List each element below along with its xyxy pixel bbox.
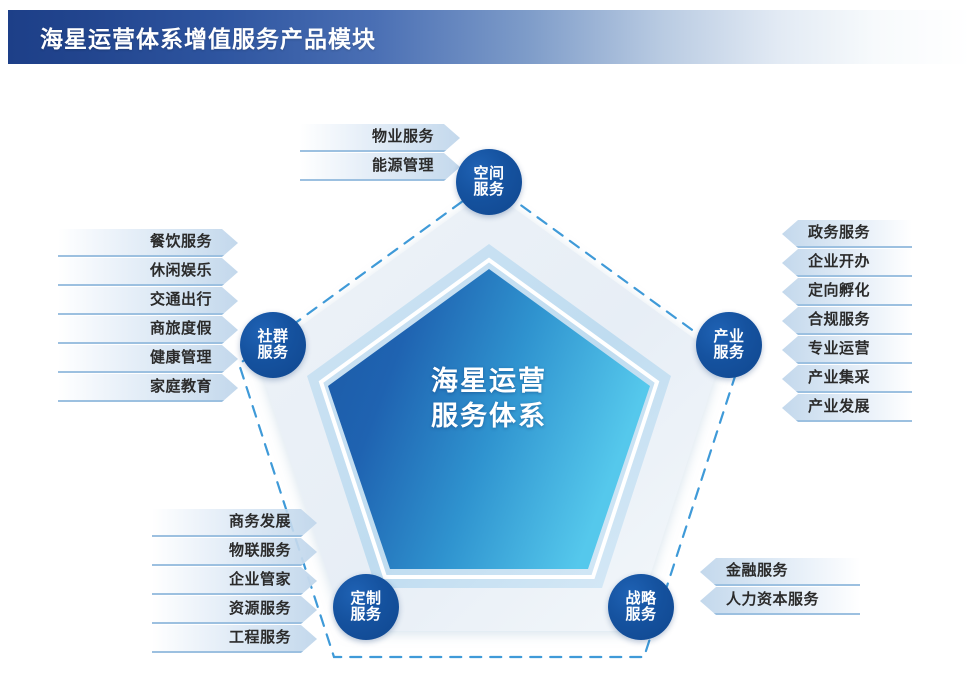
label-text: 金融服务 [700,558,860,584]
label-text: 产业集采 [782,365,912,391]
label-group-community: 餐饮服务 休闲娱乐 交通出行 商旅度假 健康管理 家庭教育 [58,229,238,403]
node-industry-line1: 产业 [713,329,744,345]
center-title-line1: 海星运营 [359,364,619,399]
center-title-line2: 服务体系 [359,399,619,434]
label-text: 工程服务 [152,625,317,651]
label-item[interactable]: 物联服务 [152,538,317,564]
label-group-strategy: 金融服务 人力资本服务 [700,558,860,616]
label-text: 商务发展 [152,509,317,535]
label-text: 能源管理 [300,153,460,179]
node-community[interactable]: 社群 服务 [240,312,306,378]
label-text: 健康管理 [58,345,238,371]
node-strategy-line1: 战略 [625,591,656,607]
label-text: 定向孵化 [782,278,912,304]
label-text: 合规服务 [782,307,912,333]
node-space-line2: 服务 [473,182,504,198]
node-strategy[interactable]: 战略 服务 [608,574,674,640]
node-custom-line1: 定制 [350,591,381,607]
page-title-bar: 海星运营体系增值服务产品模块 [8,10,971,64]
node-strategy-line2: 服务 [625,607,656,623]
label-item[interactable]: 产业集采 [782,365,912,391]
label-item[interactable]: 能源管理 [300,153,460,179]
label-text: 资源服务 [152,596,317,622]
page-title: 海星运营体系增值服务产品模块 [40,20,376,54]
label-text: 企业管家 [152,567,317,593]
label-text: 交通出行 [58,287,238,313]
label-group-industry: 政务服务 企业开办 定向孵化 合规服务 专业运营 产业集采 产业发展 [782,220,912,423]
label-item[interactable]: 金融服务 [700,558,860,584]
node-space[interactable]: 空间 服务 [456,149,522,215]
label-item[interactable]: 商务发展 [152,509,317,535]
label-text: 休闲娱乐 [58,258,238,284]
node-community-line1: 社群 [257,329,288,345]
node-space-line1: 空间 [473,166,504,182]
label-item[interactable]: 商旅度假 [58,316,238,342]
label-text: 产业发展 [782,394,912,420]
label-item[interactable]: 政务服务 [782,220,912,246]
label-item[interactable]: 企业开办 [782,249,912,275]
label-text: 餐饮服务 [58,229,238,255]
label-item[interactable]: 休闲娱乐 [58,258,238,284]
node-custom[interactable]: 定制 服务 [333,574,399,640]
label-item[interactable]: 资源服务 [152,596,317,622]
node-custom-line2: 服务 [350,607,381,623]
label-item[interactable]: 企业管家 [152,567,317,593]
label-text: 政务服务 [782,220,912,246]
diagram-canvas: 空间 服务 社群 服务 产业 服务 定制 服务 战略 服务 海星运营 服务体系 … [0,64,979,689]
label-item[interactable]: 专业运营 [782,336,912,362]
label-text: 家庭教育 [58,374,238,400]
label-item[interactable]: 产业发展 [782,394,912,420]
label-item[interactable]: 健康管理 [58,345,238,371]
center-title: 海星运营 服务体系 [359,364,619,433]
node-industry[interactable]: 产业 服务 [696,312,762,378]
label-item[interactable]: 合规服务 [782,307,912,333]
label-text: 专业运营 [782,336,912,362]
label-item[interactable]: 餐饮服务 [58,229,238,255]
label-group-space: 物业服务 能源管理 [300,124,460,182]
node-industry-line2: 服务 [713,345,744,361]
label-item[interactable]: 定向孵化 [782,278,912,304]
label-text: 人力资本服务 [700,587,860,613]
label-item[interactable]: 人力资本服务 [700,587,860,613]
label-item[interactable]: 交通出行 [58,287,238,313]
label-text: 企业开办 [782,249,912,275]
label-text: 商旅度假 [58,316,238,342]
label-text: 物联服务 [152,538,317,564]
label-text: 物业服务 [300,124,460,150]
label-group-custom: 商务发展 物联服务 企业管家 资源服务 工程服务 [152,509,317,654]
label-item[interactable]: 家庭教育 [58,374,238,400]
label-item[interactable]: 工程服务 [152,625,317,651]
label-item[interactable]: 物业服务 [300,124,460,150]
node-community-line2: 服务 [257,345,288,361]
